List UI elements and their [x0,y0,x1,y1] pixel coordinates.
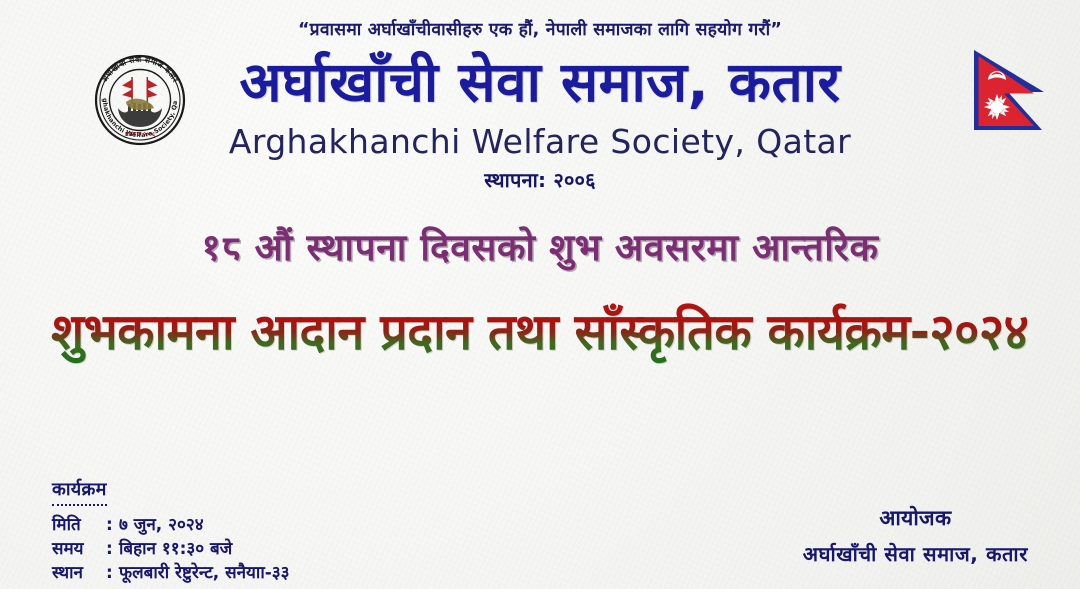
organizer-label: आयोजक [803,504,1028,532]
program-time-label: समय [52,537,106,561]
program-row-date: मिति : ७ जुन, २०२४ [52,513,289,537]
program-venue-label: स्थान [52,561,106,585]
event-invitation-poster: “प्रवासमा अर्घाखाँचीवासीहरु एक हौं, नेपा… [0,0,1080,589]
program-venue-value: फूलबारी रेष्टुरेन्ट, सनैयाा-३३ [119,561,289,585]
program-time-value: बिहान ११:३० बजे [119,537,232,561]
event-headline: शुभकामना आदान प्रदान तथा साँस्कृतिक कार्… [51,296,1028,364]
organisation-title-nepali: अर्घाखाँची सेवा समाज, कतार [0,54,1080,110]
program-venue-colon: : [106,561,119,585]
program-time-colon: : [106,537,119,561]
program-date-value: ७ जुन, २०२४ [119,513,204,537]
program-date-label: मिति [52,513,106,537]
organisation-title-english: Arghakhanchi Welfare Society, Qatar [0,122,1080,161]
program-row-venue: स्थान : फूलबारी रेष्टुरेन्ट, सनैयाा-३३ [52,561,289,585]
program-row-time: समय : बिहान ११:३० बजे [52,537,289,561]
poster-tagline: “प्रवासमा अर्घाखाँचीवासीहरु एक हौं, नेपा… [0,17,1080,41]
program-date-colon: : [106,513,119,537]
headline-container: शुभकामना आदान प्रदान तथा साँस्कृतिक कार्… [0,296,1080,364]
program-details: कार्यक्रम मिति : ७ जुन, २०२४ समय : बिहान… [52,477,289,585]
program-heading: कार्यक्रम [52,477,107,506]
established-year: स्थापना: २००६ [0,166,1080,193]
occasion-line: १८ औं स्थापना दिवसको शुभ अवसरमा आन्तरिक [0,220,1080,271]
organizer-block: आयोजक अर्घाखाँची सेवा समाज, कतार [803,504,1028,567]
organizer-name: अर्घाखाँची सेवा समाज, कतार [803,540,1028,567]
